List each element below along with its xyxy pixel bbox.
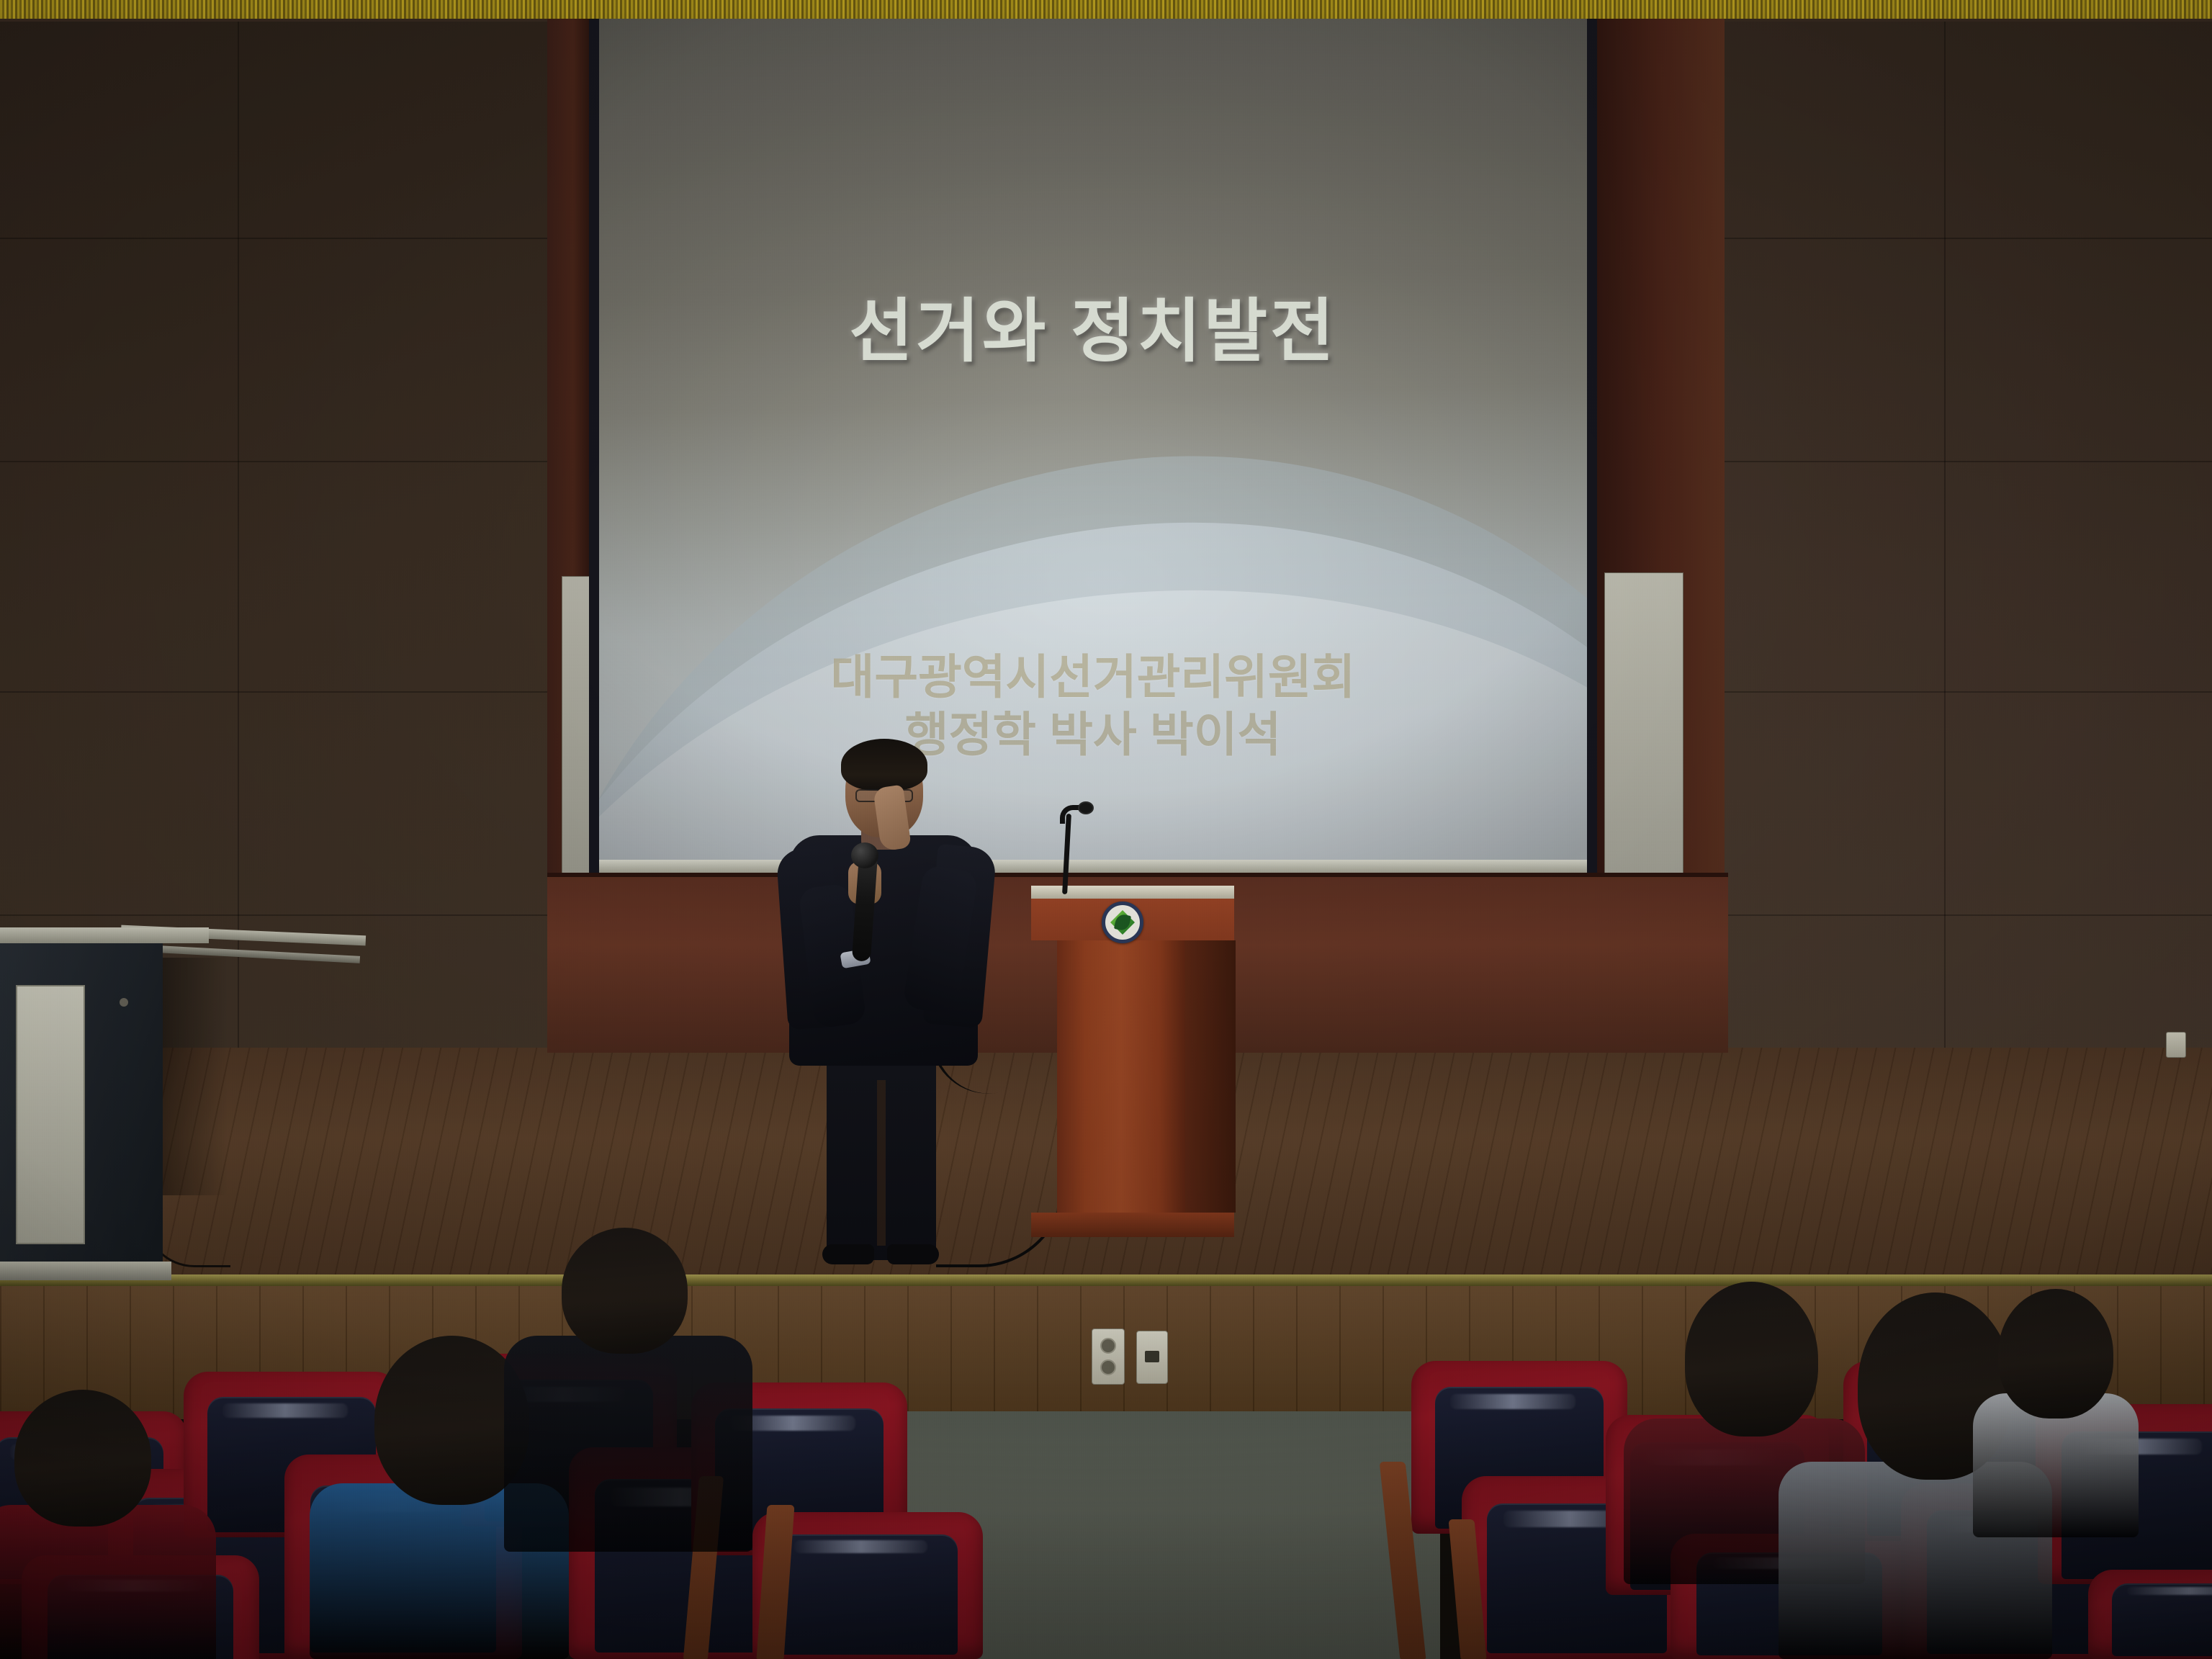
av-cabinet-knob[interactable]	[120, 998, 128, 1007]
audience-head	[14, 1390, 151, 1527]
av-cabinet-base	[0, 1262, 171, 1280]
wall-light-panel-right	[1604, 572, 1683, 875]
podium-column	[1057, 940, 1185, 1213]
seat-highlight	[2127, 1587, 2212, 1595]
av-cabinet-door[interactable]	[16, 985, 85, 1244]
valance-fringe	[0, 0, 2212, 19]
presenter-hair	[841, 739, 927, 791]
presenter-shoe-right	[887, 1244, 939, 1264]
av-cabinet-shadow	[156, 958, 228, 1195]
slide-title: 선거와 정치발전	[599, 275, 1587, 375]
power-outlet[interactable]	[2166, 1032, 2186, 1058]
gooseneck-mic-head-icon	[1078, 801, 1094, 814]
microphone-head-icon	[851, 842, 878, 868]
screen-bottom-edge	[599, 860, 1587, 873]
stage-valance	[0, 0, 2212, 19]
audience-head	[1685, 1282, 1818, 1437]
audience-head	[1998, 1289, 2113, 1419]
presenter-leg-gap	[877, 1080, 886, 1246]
podium-side	[1185, 940, 1236, 1213]
audience-head	[562, 1228, 688, 1354]
av-cabinet-top	[0, 927, 209, 943]
slide-subtitle-presenter: 행정학 박사 박이석	[599, 696, 1587, 765]
auditorium-scene: 선거와 정치발전 대구광역시선거관리위원회 행정학 박사 박이석	[0, 0, 2212, 1659]
emblem-leaf-shape	[1114, 913, 1131, 932]
projection-screen: 선거와 정치발전 대구광역시선거관리위원회 행정학 박사 박이석	[599, 16, 1587, 870]
stage-brass-edge	[0, 1274, 2212, 1286]
audience-shoulders	[0, 1505, 216, 1659]
av-jack-plate[interactable]	[1136, 1331, 1168, 1384]
power-outlet[interactable]	[1092, 1328, 1125, 1385]
audience-shoulders	[504, 1336, 752, 1552]
presenter-shoe-left	[822, 1244, 874, 1264]
seat-highlight	[1450, 1394, 1575, 1410]
podium-emblem-icon	[1102, 902, 1143, 943]
seat-highlight	[794, 1540, 928, 1553]
auditorium-seat[interactable]	[2088, 1570, 2212, 1659]
podium-foot	[1031, 1213, 1234, 1237]
seat-highlight	[222, 1403, 348, 1419]
stage-back-edge	[547, 873, 1728, 877]
